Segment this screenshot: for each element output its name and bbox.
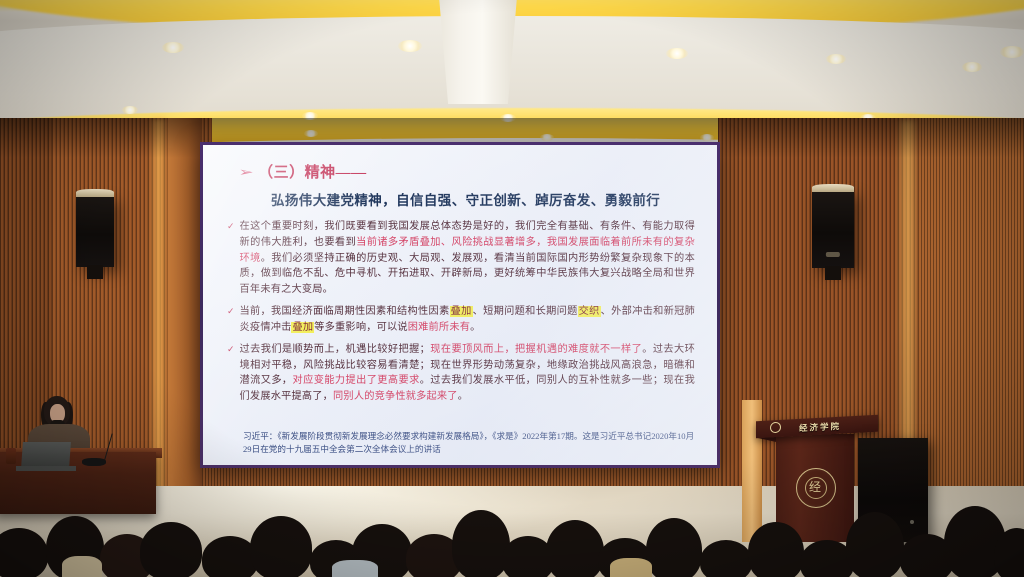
check-icon: ✓ [227,219,235,298]
audience-head [646,518,702,577]
highlighted-term: 交织 [578,306,601,317]
lecture-hall-photo: ➢ （三）精神—— 弘扬伟大建党精神，自信自强、守正创新、踔厉奋发、勇毅前行 ✓… [0,0,1024,577]
speaker-bracket [825,266,842,280]
slide-heading: （三）精神—— [258,161,367,182]
slide-bullet: ✓过去我们是顺势而上，机遇比较好把握；现在要顶风而上，把握机遇的难度就不一样了。… [227,342,695,405]
text-run: 同别人的竞争性就多起来了 [333,391,458,402]
podium-seal-glyph: 经 [805,477,825,497]
highlighted-term: 叠加 [450,306,473,317]
laptop [21,442,71,468]
slide-bullet-text: 过去我们是顺势而上，机遇比较好把握；现在要顶风而上，把握机遇的难度就不一样了。过… [240,342,695,405]
audience-head [546,520,604,577]
text-run: 困难前所未有 [408,322,470,333]
check-icon: ✓ [227,304,235,336]
slide-bullet-text: 在这个重要时刻，我们既要看到我国发展总体态势是好的，我们完全有基础、有条件、有能… [240,219,695,298]
downlight-icon [826,54,846,64]
laptop-base [16,466,76,471]
audience-head [250,516,312,577]
slide-heading-row: ➢ （三）精神—— [219,161,701,182]
highlighted-term: 叠加 [291,322,314,333]
wall-speaker-left [76,195,114,267]
text-run: 。我们必须坚持正确的历史观、大局观、发展观，看清当前国际国内形势纷繁复杂现象下的… [240,253,695,296]
speaker-brand-badge [826,252,840,257]
audience-head [700,540,752,577]
ceiling-soffit-column [434,0,522,104]
slide-bullet: ✓在这个重要时刻，我们既要看到我国发展总体态势是好的，我们完全有基础、有条件、有… [227,219,695,298]
audience-head [846,512,904,577]
downlight-icon [1000,46,1024,58]
text-run: 当前，我国经济面临周期性因素和结构性因素 [240,306,450,317]
audience-shoulder [62,556,102,577]
drinking-cup [6,448,16,464]
pa-speaker-led-icon [910,520,914,524]
speaker-bracket [87,265,102,279]
wall-speaker-right [812,190,854,268]
downlight-icon [122,106,138,114]
text-run: 。 [458,391,468,402]
slide-bullet-list: ✓在这个重要时刻，我们既要看到我国发展总体态势是好的，我们完全有基础、有条件、有… [219,219,701,405]
projection-screen-frame: ➢ （三）精神—— 弘扬伟大建党精神，自信自强、守正创新、踔厉奋发、勇毅前行 ✓… [200,142,720,468]
speaker-top-cap [76,189,114,197]
slide-citation: 习近平：《新发展阶段贯彻新发展理念必然要求构建新发展格局》，《求是》2022年第… [243,430,701,458]
audience-shoulder [332,560,378,577]
downlight-icon [162,42,184,53]
audience-head [452,510,510,577]
slide-content: ➢ （三）精神—— 弘扬伟大建党精神，自信自强、守正创新、踔厉奋发、勇毅前行 ✓… [203,145,717,465]
text-run: 现在要顶风而上，把握机遇的难度就不一样了 [430,344,642,355]
microphone-base [82,458,106,466]
downlight-icon [962,62,982,72]
arrow-bullet-icon: ➢ [238,166,253,178]
text-run: 、短期问题和长期问题 [473,306,578,317]
audience-head [140,522,202,577]
downlight-icon [398,40,422,52]
audience-shoulder [610,558,652,577]
text-run: 过去我们是顺势而上，机遇比较好把握； [240,344,431,355]
slide-subtitle: 弘扬伟大建党精神，自信自强、守正创新、踔厉奋发、勇毅前行 [219,189,701,209]
projection-screen: ➢ （三）精神—— 弘扬伟大建党精神，自信自强、守正创新、踔厉奋发、勇毅前行 ✓… [203,145,717,465]
speaker-top-cap [812,184,854,192]
wall-panel-right-far [918,118,1024,518]
text-run: 等多重影响，可以说 [314,322,408,333]
text-run: 对应变能力提出了更高要求 [293,375,420,386]
check-icon: ✓ [227,342,235,405]
wall-column-left [168,118,202,518]
downlight-icon [666,48,688,59]
text-run: 。 [470,322,480,333]
slide-bullet: ✓当前，我国经济面临周期性因素和结构性因素叠加、短期问题和长期问题交织、外部冲击… [227,304,695,336]
audience-head [748,522,804,577]
slide-bullet-text: 当前，我国经济面临周期性因素和结构性因素叠加、短期问题和长期问题交织、外部冲击和… [240,304,695,336]
